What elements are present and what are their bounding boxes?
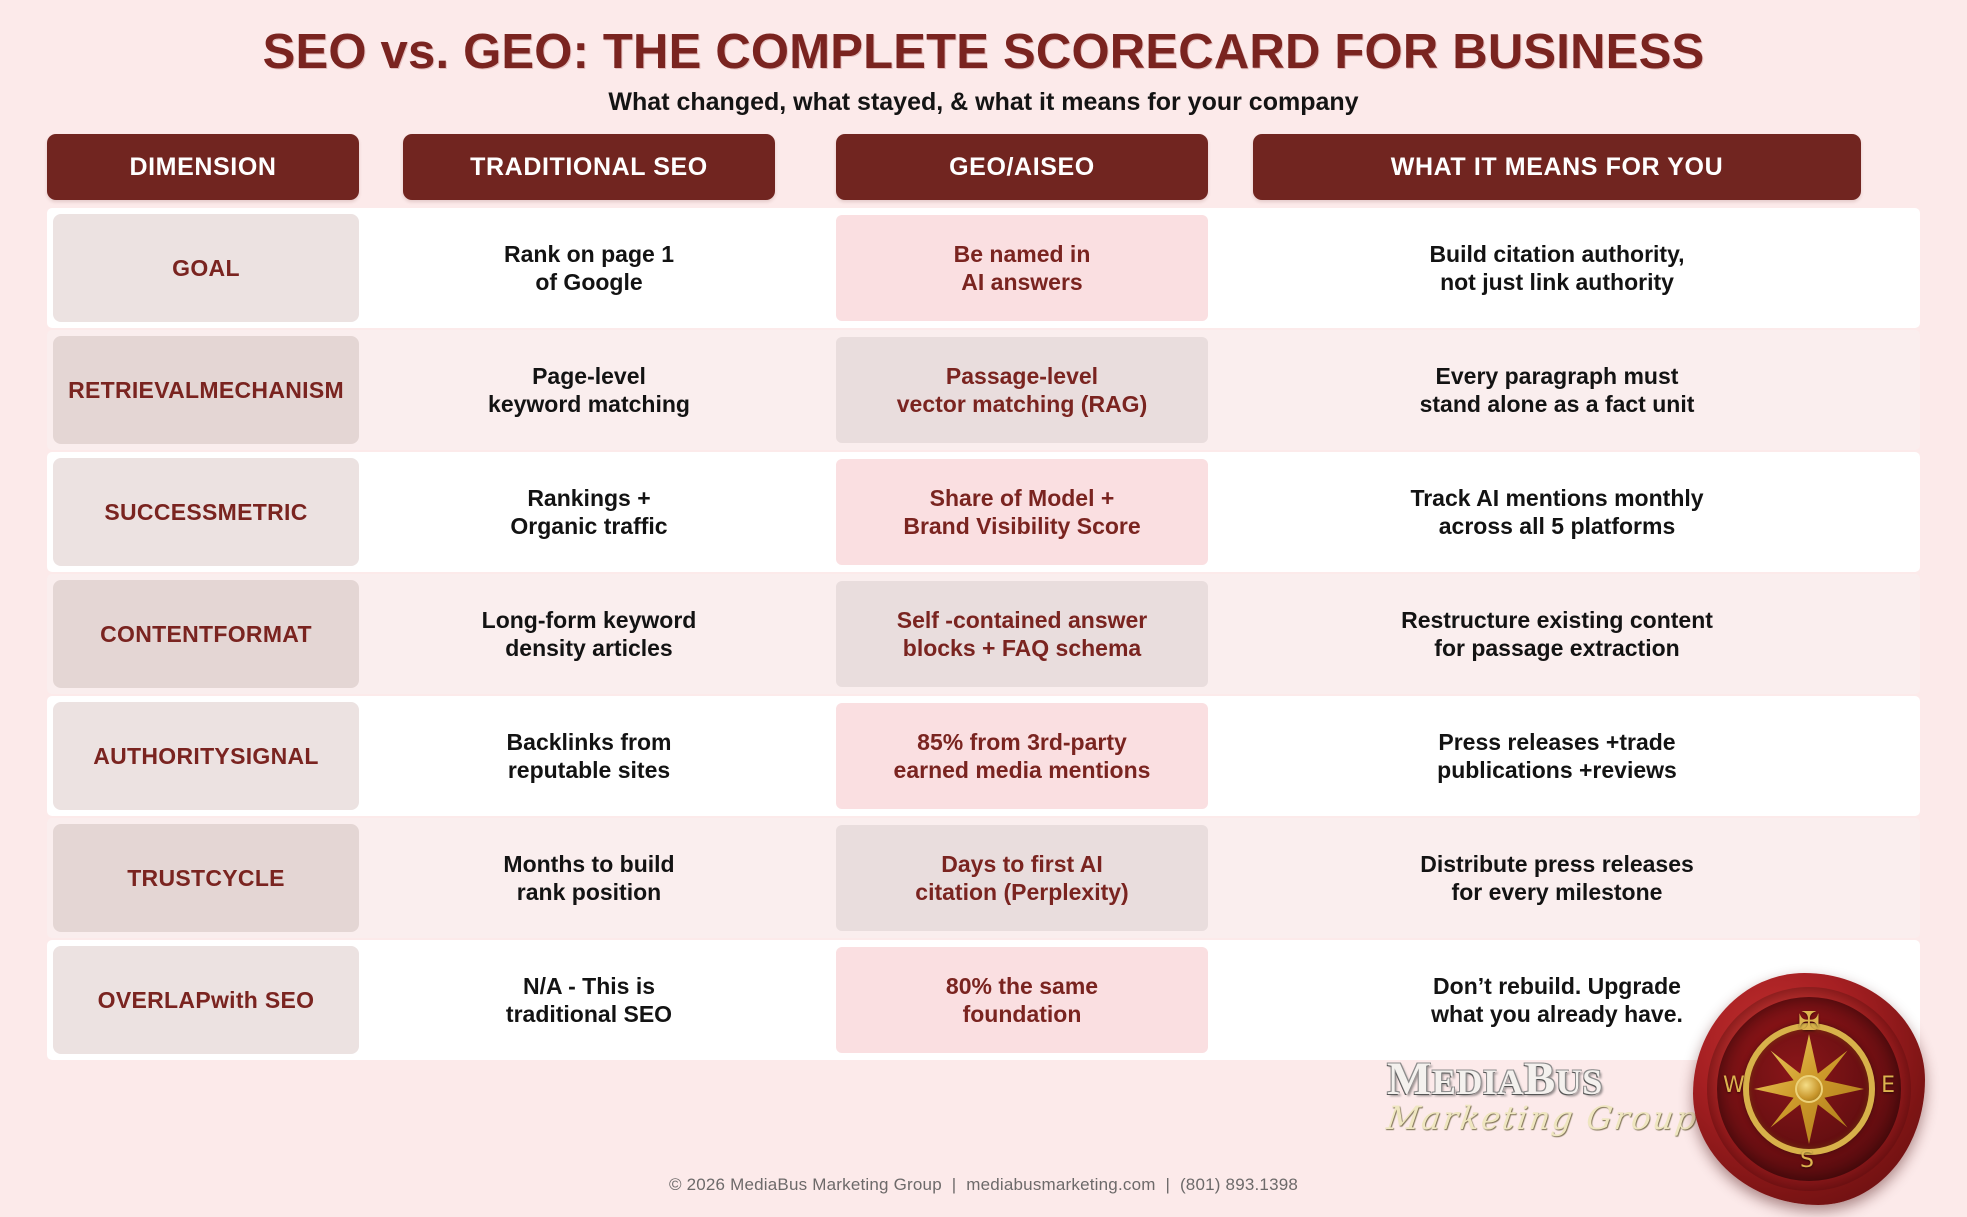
footer-copyright: © 2026 MediaBus Marketing Group bbox=[669, 1175, 942, 1194]
compass-east-icon: E bbox=[1881, 1073, 1895, 1098]
row-gap bbox=[775, 452, 836, 572]
row-gap bbox=[359, 818, 403, 938]
dimension-cell: GOAL bbox=[53, 214, 359, 322]
table-row: TRUSTCYCLE Months to buildrank position … bbox=[47, 818, 1920, 938]
table-row: OVERLAPwith SEO N/A - This istraditional… bbox=[47, 940, 1920, 1060]
traditional-seo-cell: Rankings +Organic traffic bbox=[403, 452, 775, 572]
logo-bus-cap: B bbox=[1524, 1053, 1556, 1105]
geo-aiseo-cell: Passage-levelvector matching (RAG) bbox=[836, 337, 1208, 443]
seo-line-1: Backlinks from bbox=[507, 729, 672, 755]
means-line-2: for every milestone bbox=[1452, 879, 1663, 905]
compass-west-icon: W bbox=[1723, 1073, 1745, 1098]
table-row: GOAL Rank on page 1of Google Be named in… bbox=[47, 208, 1920, 328]
row-gap bbox=[359, 574, 403, 694]
logo-media-cap: M bbox=[1387, 1053, 1432, 1105]
geo-line-1: Self -contained answer bbox=[897, 607, 1148, 633]
means-line-1: Don’t rebuild. Upgrade bbox=[1433, 973, 1681, 999]
footer-phone: (801) 893.1398 bbox=[1180, 1175, 1298, 1194]
traditional-seo-cell: Months to buildrank position bbox=[403, 818, 775, 938]
geo-line-1: Passage-level bbox=[946, 363, 1098, 389]
footer-website-link[interactable]: mediabusmarketing.com bbox=[966, 1175, 1155, 1194]
footer-separator-1: | bbox=[952, 1175, 957, 1194]
geo-line-2: citation (Perplexity) bbox=[915, 879, 1128, 905]
seo-line-2: reputable sites bbox=[508, 757, 670, 783]
means-line-2: not just link authority bbox=[1440, 269, 1674, 295]
dimension-cell: RETRIEVALMECHANISM bbox=[53, 336, 359, 444]
geo-line-1: Days to first AI bbox=[941, 851, 1102, 877]
row-gap bbox=[359, 208, 403, 328]
compass-hub bbox=[1795, 1075, 1823, 1103]
header-gap-1 bbox=[359, 134, 403, 200]
geo-line-1: Be named in bbox=[954, 241, 1091, 267]
geo-line-2: Brand Visibility Score bbox=[903, 513, 1140, 539]
seo-line-1: Rankings + bbox=[527, 485, 650, 511]
geo-aiseo-cell: 80% the samefoundation bbox=[836, 947, 1208, 1053]
scorecard-table: DIMENSION TRADITIONAL SEO GEO/AISEO WHAT… bbox=[47, 134, 1920, 1060]
dimension-cell: SUCCESSMETRIC bbox=[53, 458, 359, 566]
seo-line-2: Organic traffic bbox=[510, 513, 667, 539]
column-header-what-it-means: WHAT IT MEANS FOR YOU bbox=[1253, 134, 1861, 200]
row-gap bbox=[1208, 452, 1253, 572]
geo-line-1: 80% the same bbox=[946, 973, 1098, 999]
logo-bus-rest: US bbox=[1556, 1062, 1603, 1102]
means-line-2: across all 5 platforms bbox=[1439, 513, 1676, 539]
row-gap bbox=[1208, 208, 1253, 328]
means-line-1: Distribute press releases bbox=[1420, 851, 1694, 877]
means-line-1: Press releases +trade bbox=[1438, 729, 1675, 755]
geo-aiseo-cell: Be named inAI answers bbox=[836, 215, 1208, 321]
dimension-cell: OVERLAPwith SEO bbox=[53, 946, 359, 1054]
table-row: AUTHORITYSIGNAL Backlinks fromreputable … bbox=[47, 696, 1920, 816]
row-gap bbox=[1208, 330, 1253, 450]
geo-line-1: Share of Model + bbox=[930, 485, 1115, 511]
what-it-means-cell: Press releases +tradepublications +revie… bbox=[1253, 696, 1861, 816]
what-it-means-cell: Restructure existing contentfor passage … bbox=[1253, 574, 1861, 694]
geo-aiseo-cell: Share of Model +Brand Visibility Score bbox=[836, 459, 1208, 565]
column-header-traditional-seo: TRADITIONAL SEO bbox=[403, 134, 775, 200]
geo-line-2: foundation bbox=[963, 1001, 1082, 1027]
dimension-cell: TRUSTCYCLE bbox=[53, 824, 359, 932]
row-gap bbox=[775, 574, 836, 694]
seo-line-1: Months to build bbox=[503, 851, 674, 877]
traditional-seo-cell: Page-levelkeyword matching bbox=[403, 330, 775, 450]
logo-name-text: MEDIABUS bbox=[1387, 1056, 1707, 1103]
geo-line-2: blocks + FAQ schema bbox=[903, 635, 1141, 661]
means-line-1: Build citation authority, bbox=[1429, 241, 1684, 267]
logo-tagline: Marketing Group bbox=[1384, 1099, 1709, 1137]
header-gap-2 bbox=[775, 134, 836, 200]
geo-aiseo-cell: Days to first AIcitation (Perplexity) bbox=[836, 825, 1208, 931]
row-gap bbox=[359, 330, 403, 450]
seo-line-1: Page-level bbox=[532, 363, 646, 389]
row-gap bbox=[775, 208, 836, 328]
means-line-2: what you already have. bbox=[1431, 1001, 1683, 1027]
traditional-seo-cell: Long-form keyworddensity articles bbox=[403, 574, 775, 694]
means-line-2: stand alone as a fact unit bbox=[1420, 391, 1695, 417]
row-gap bbox=[359, 452, 403, 572]
column-header-geo-aiseo: GEO/AISEO bbox=[836, 134, 1208, 200]
row-gap bbox=[359, 940, 403, 1060]
row-gap bbox=[359, 696, 403, 816]
geo-line-1: 85% from 3rd-party bbox=[917, 729, 1127, 755]
compass-south-icon: S bbox=[1800, 1148, 1814, 1173]
geo-aiseo-cell: Self -contained answerblocks + FAQ schem… bbox=[836, 581, 1208, 687]
row-gap bbox=[1208, 818, 1253, 938]
row-gap bbox=[775, 330, 836, 450]
row-gap bbox=[1208, 696, 1253, 816]
geo-line-2: vector matching (RAG) bbox=[897, 391, 1147, 417]
seo-line-2: of Google bbox=[535, 269, 642, 295]
geo-aiseo-cell: 85% from 3rd-partyearned media mentions bbox=[836, 703, 1208, 809]
seo-line-2: density articles bbox=[505, 635, 672, 661]
page-subtitle: What changed, what stayed, & what it mea… bbox=[0, 89, 1967, 117]
seo-line-1: Rank on page 1 bbox=[504, 241, 674, 267]
seo-line-2: traditional SEO bbox=[506, 1001, 672, 1027]
seo-line-2: keyword matching bbox=[488, 391, 690, 417]
means-line-1: Every paragraph must bbox=[1436, 363, 1679, 389]
seo-line-1: N/A - This is bbox=[523, 973, 655, 999]
footer-separator-2: | bbox=[1165, 1175, 1170, 1194]
dimension-cell: AUTHORITYSIGNAL bbox=[53, 702, 359, 810]
what-it-means-cell: Every paragraph muststand alone as a fac… bbox=[1253, 330, 1861, 450]
means-line-2: for passage extraction bbox=[1434, 635, 1679, 661]
geo-line-2: earned media mentions bbox=[894, 757, 1151, 783]
seo-line-2: rank position bbox=[517, 879, 661, 905]
table-row: SUCCESSMETRIC Rankings +Organic traffic … bbox=[47, 452, 1920, 572]
seo-line-1: Long-form keyword bbox=[482, 607, 697, 633]
means-line-2: publications +reviews bbox=[1437, 757, 1677, 783]
what-it-means-cell: Track AI mentions monthlyacross all 5 pl… bbox=[1253, 452, 1861, 572]
means-line-1: Restructure existing content bbox=[1401, 607, 1713, 633]
what-it-means-cell: Build citation authority,not just link a… bbox=[1253, 208, 1861, 328]
traditional-seo-cell: N/A - This istraditional SEO bbox=[403, 940, 775, 1060]
what-it-means-cell: Distribute press releasesfor every miles… bbox=[1253, 818, 1861, 938]
table-header-row: DIMENSION TRADITIONAL SEO GEO/AISEO WHAT… bbox=[47, 134, 1920, 200]
column-header-dimension: DIMENSION bbox=[47, 134, 359, 200]
header-gap-3 bbox=[1208, 134, 1253, 200]
row-gap bbox=[775, 940, 836, 1060]
geo-line-2: AI answers bbox=[961, 269, 1082, 295]
footer-credit: © 2026 MediaBus Marketing Group | mediab… bbox=[0, 1175, 1967, 1195]
title-block: SEO vs. GEO: THE COMPLETE SCORECARD FOR … bbox=[0, 0, 1967, 116]
logo-wordmark: MEDIABUS Marketing Group bbox=[1387, 1056, 1707, 1137]
row-gap bbox=[775, 696, 836, 816]
traditional-seo-cell: Rank on page 1of Google bbox=[403, 208, 775, 328]
logo-media-rest: EDIA bbox=[1432, 1062, 1524, 1102]
table-row: CONTENTFORMAT Long-form keyworddensity a… bbox=[47, 574, 1920, 694]
what-it-means-cell: Don’t rebuild. Upgradewhat you already h… bbox=[1253, 940, 1861, 1060]
row-gap bbox=[1208, 940, 1253, 1060]
page-title: SEO vs. GEO: THE COMPLETE SCORECARD FOR … bbox=[0, 26, 1967, 79]
means-line-1: Track AI mentions monthly bbox=[1410, 485, 1703, 511]
row-gap bbox=[1208, 574, 1253, 694]
traditional-seo-cell: Backlinks fromreputable sites bbox=[403, 696, 775, 816]
table-row: RETRIEVALMECHANISM Page-levelkeyword mat… bbox=[47, 330, 1920, 450]
row-gap bbox=[775, 818, 836, 938]
dimension-cell: CONTENTFORMAT bbox=[53, 580, 359, 688]
